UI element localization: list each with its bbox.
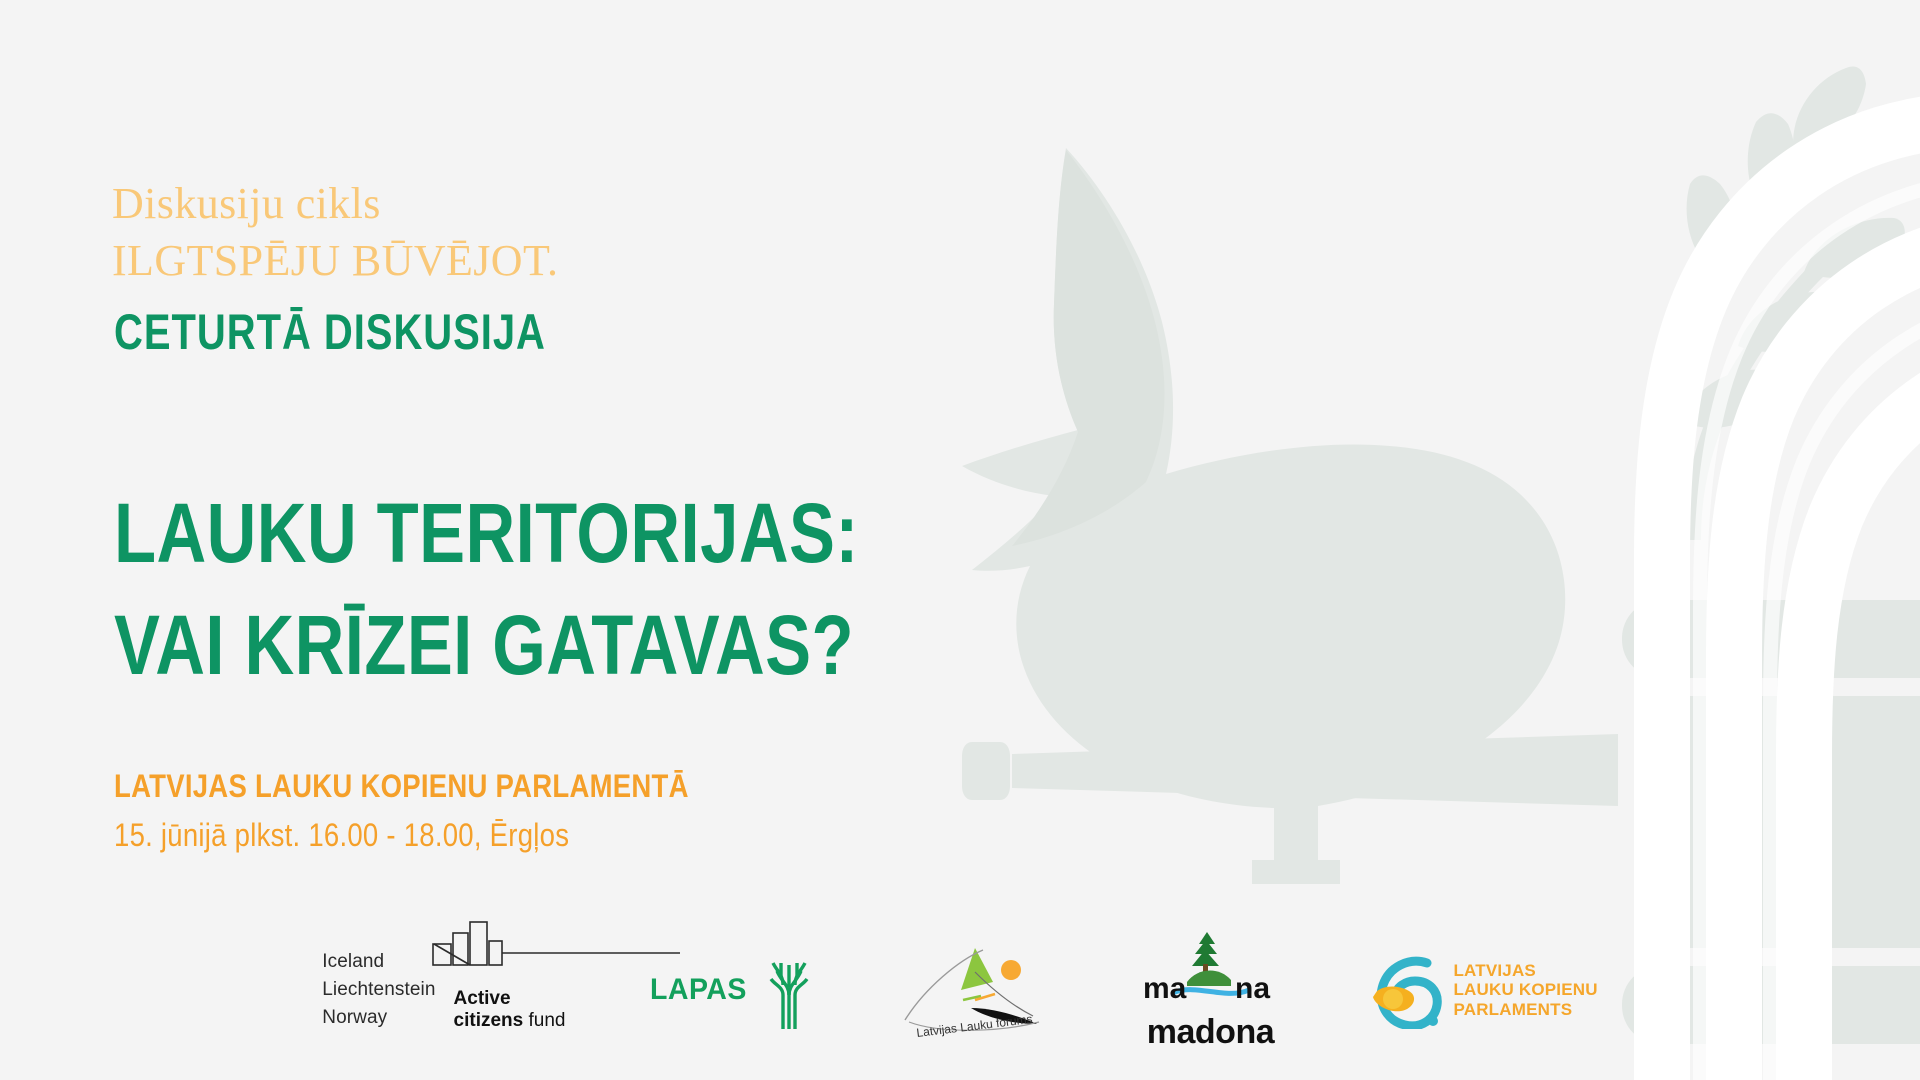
llkp-line-1: LATVIJAS <box>1453 961 1597 980</box>
page-title: LAUKU TERITORIJAS: VAI KRĪZEI GATAVAS? <box>114 478 859 701</box>
llf-mark-icon: Latvijas Lauku forums <box>901 938 1051 1042</box>
eea-country-norway: Norway <box>322 1004 435 1032</box>
acf-line-1: Active <box>454 988 566 1010</box>
poster-content: Diskusiju cikls ILGTSPĒJU BŪVĒJOT. CETUR… <box>112 0 1162 1080</box>
llkp-numeral-icon <box>1369 951 1447 1029</box>
eyebrow-line-2: ILGTSPĒJU BŪVĒJOT. <box>112 233 558 289</box>
event-datetime: 15. jūnijā plkst. 16.00 - 18.00, Ērgļos <box>114 811 689 860</box>
eea-country-iceland: Iceland <box>322 948 435 976</box>
madona-line-1-left: ma <box>1143 972 1187 1005</box>
acf-line-2: citizens fund <box>454 1010 566 1032</box>
madona-mark-icon: ma na <box>1135 930 1285 1016</box>
active-citizens-fund-wordmark: Active citizens fund <box>454 988 566 1032</box>
lapas-wordmark: LAPAS <box>650 973 747 1007</box>
acf-citizens: citizens <box>454 1010 524 1031</box>
olive-branch-icon <box>1682 67 1905 540</box>
title-line-2: VAI KRĪZEI GATAVAS? <box>114 590 859 702</box>
event-details: LATVIJAS LAUKU KOPIENU PARLAMENTĀ 15. jū… <box>114 762 689 861</box>
logo-eea-active-citizens-fund: Iceland Liechtenstein Norway Active citi… <box>322 948 565 1032</box>
logo-madona: ma na madona <box>1135 930 1285 1049</box>
madona-wordmark: madona <box>1147 1016 1274 1049</box>
madona-line-1-right: na <box>1235 972 1270 1005</box>
title-line-1: LAUKU TERITORIJAS: <box>114 478 859 590</box>
acf-fund: fund <box>529 1010 566 1031</box>
logo-latvijas-lauku-forums: Latvijas Lauku forums <box>901 938 1051 1042</box>
poster-canvas: Diskusiju cikls ILGTSPĒJU BŪVĒJOT. CETUR… <box>0 0 1920 1080</box>
llkp-line-3: PARLAMENTS <box>1453 1000 1597 1019</box>
eyebrow-line-1: Diskusiju cikls <box>112 179 381 228</box>
partner-logo-strip: Iceland Liechtenstein Norway Active citi… <box>0 930 1920 1050</box>
llkp-line-2: LAUKU KOPIENU <box>1453 980 1597 999</box>
llkp-wordmark: LATVIJAS LAUKU KOPIENU PARLAMENTS <box>1453 961 1597 1019</box>
kicker-heading: CETURTĀ DISKUSIJA <box>114 303 546 361</box>
eea-country-liechtenstein: Liechtenstein <box>322 976 435 1004</box>
event-place: LATVIJAS LAUKU KOPIENU PARLAMENTĀ <box>114 762 689 811</box>
eea-bars-icon <box>432 920 682 966</box>
lapas-tree-icon <box>761 951 817 1029</box>
logo-llkp: LATVIJAS LAUKU KOPIENU PARLAMENTS <box>1369 951 1597 1029</box>
eea-countries: Iceland Liechtenstein Norway <box>322 948 435 1032</box>
llf-wordmark: Latvijas Lauku forums <box>916 1012 1034 1040</box>
